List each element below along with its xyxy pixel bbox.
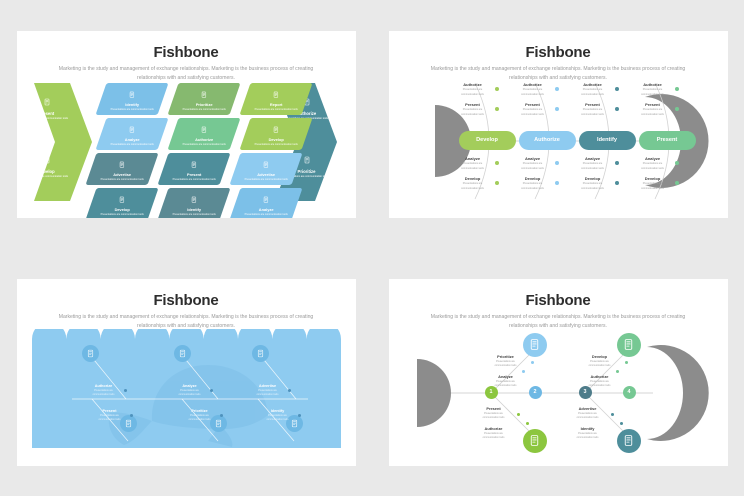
tile-icon-wrap-5 [175, 120, 233, 138]
branch-1-dot-1 [526, 422, 530, 426]
node-number-1: 1 [490, 389, 493, 395]
branch-top-desc1-1: Presentations are [170, 389, 210, 393]
branch-0-desc2-0: communication tools [485, 364, 527, 368]
tile-label-11: Analyze [237, 208, 295, 212]
branch-bottom-dot-0 [130, 414, 133, 417]
bone-top-desc2-2-0: communication tools [571, 93, 615, 97]
tile-develop-9[interactable]: DevelopPresentations are communication t… [239, 118, 312, 150]
search-icon [622, 434, 635, 447]
bone-bottom-desc1-1-0: Presentations are [511, 162, 555, 166]
tile-label-0: Identify [103, 103, 161, 107]
tile-desc-4: Presentations are communication tools [175, 108, 233, 112]
bone-top-desc2-0-0: communication tools [451, 93, 495, 97]
bone-bottom-dot-2-1 [615, 181, 619, 185]
slide-numbered-fishbone[interactable]: Fishbone Marketing is the study and mana… [389, 279, 728, 466]
panel1-stage: PresentPresentations are communication t… [17, 77, 356, 218]
cloud-icon [200, 125, 208, 133]
branch-top-dot-1 [210, 389, 213, 392]
node-number-4: 4 [628, 389, 631, 395]
bone-top-desc1-2-1: Presentations are [571, 108, 615, 112]
branch-0-item-0[interactable]: PrioritizePresentations arecommunication… [485, 355, 527, 369]
bone-bottom-dot-0-0 [495, 161, 499, 165]
bone-top-label-2-0: Authorize [571, 83, 615, 88]
mobile-icon [178, 349, 187, 358]
tile-desc-9: Presentations are communication tools [247, 143, 305, 147]
tile-label-6: Present [165, 173, 223, 177]
branch-bottom-dot-1 [220, 414, 223, 417]
bone-top-0-1[interactable]: PresentPresentations arecommunication to… [451, 103, 495, 117]
tile-report-8[interactable]: ReportPresentations are communication to… [239, 83, 312, 115]
bone-bottom-1-0[interactable]: AnalyzePresentations arecommunication to… [511, 157, 555, 171]
bone-top-3-1[interactable]: PresentPresentations arecommunication to… [631, 103, 675, 117]
underwater-diagram: AuthorizePresentations arecommunication … [32, 329, 341, 448]
bone-bottom-dot-3-0 [675, 161, 679, 165]
capsule-label-2: Identify [597, 137, 617, 143]
tile-identify-0[interactable]: IdentifyPresentations are communication … [95, 83, 168, 115]
tile-label-3: Develop [93, 208, 151, 212]
tile-label-5: Authorize [175, 138, 233, 142]
chevron-left-label-1: Develop [19, 170, 75, 175]
bone-top-desc1-2-0: Presentations are [571, 88, 615, 92]
tile-desc-0: Presentations are communication tools [103, 108, 161, 112]
slide-cell-2: Fishbone Marketing is the study and mana… [372, 0, 744, 248]
bone-bottom-label-2-1: Develop [571, 177, 615, 182]
bone-bottom-desc1-0-0: Presentations are [451, 162, 495, 166]
bone-top-desc2-1-0: communication tools [511, 93, 555, 97]
branch-1-dot-0 [517, 413, 521, 417]
branch-1-desc2-1: communication tools [473, 436, 515, 440]
bone-top-desc1-0-1: Presentations are [451, 108, 495, 112]
tile-identify-7[interactable]: IdentifyPresentations are communication … [157, 188, 230, 218]
tile-inner-7: IdentifyPresentations are communication … [165, 190, 223, 217]
bone-bottom-desc1-3-0: Presentations are [631, 162, 675, 166]
clipboard-icon [118, 160, 126, 168]
branch-top-label-2: Advertise [248, 384, 288, 388]
phone-icon [86, 349, 95, 358]
branch-2-item-0[interactable]: DevelopPresentations arecommunication to… [579, 355, 621, 369]
bone-bottom-dot-2-0 [615, 161, 619, 165]
bone-top-desc2-2-1: communication tools [571, 113, 615, 117]
bone-top-1-1[interactable]: PresentPresentations arecommunication to… [511, 103, 555, 117]
bone-bottom-3-1[interactable]: DevelopPresentations arecommunication to… [631, 177, 675, 191]
chevron-left-icon-wrap-1 [19, 151, 75, 169]
bone-top-desc2-1-1: communication tools [511, 113, 555, 117]
bone-top-dot-0-1 [495, 107, 499, 111]
tile-inner-0: IdentifyPresentations are communication … [103, 85, 161, 112]
branch-bottom-label-0: Present [90, 409, 130, 413]
branch-top-desc1-0: Presentations are [84, 389, 124, 393]
branch-bottom-dot-2 [298, 414, 301, 417]
branch-2-label-1: Authorize [579, 375, 621, 379]
tile-label-8: Report [247, 103, 305, 107]
slide-cell-1: Fishbone Marketing is the study and mana… [0, 0, 372, 248]
branch-0-desc2-1: communication tools [485, 384, 527, 388]
bone-top-desc1-3-0: Presentations are [631, 88, 675, 92]
bone-top-label-1-1: Present [511, 103, 555, 108]
branch-top-2[interactable]: AdvertisePresentations arecommunication … [248, 384, 288, 397]
tile-label-2: Advertise [93, 173, 151, 177]
fish-skeleton [389, 325, 728, 466]
tile-icon-wrap-10 [237, 155, 295, 173]
node-4[interactable]: 4 [623, 386, 636, 399]
tile-develop-3[interactable]: DevelopPresentations are communication t… [85, 188, 158, 218]
bone-top-label-0-0: Authorize [451, 83, 495, 88]
tile-authorize-5[interactable]: AuthorizePresentations are communication… [167, 118, 240, 150]
slide-grid: Fishbone Marketing is the study and mana… [0, 0, 744, 496]
branch-top-desc2-2: communication tools [248, 393, 288, 397]
subtitle-line-1: Marketing is the study and management of… [59, 66, 269, 72]
tile-icon-wrap-0 [103, 85, 161, 103]
capsule-develop[interactable]: Develop [459, 131, 516, 150]
slide-underwater-fishbone[interactable]: Fishbone Marketing is the study and mana… [17, 279, 356, 466]
tile-inner-11: AnalyzePresentations are communication t… [237, 190, 295, 217]
branch-bottom-1[interactable]: PrioritizePresentations arecommunication… [180, 409, 220, 422]
bone-top-dot-0-0 [495, 87, 499, 91]
bone-bottom-dot-1-0 [555, 161, 559, 165]
tile-inner-5: AuthorizePresentations are communication… [175, 120, 233, 147]
branch-1-desc1-1: Presentations are [473, 432, 515, 436]
tile-icon-wrap-3 [93, 190, 151, 208]
tile-label-10: Advertise [237, 173, 295, 177]
bone-bottom-label-2-0: Analyze [571, 157, 615, 162]
branch-3-label-1: Identify [567, 427, 609, 431]
bone-bottom-2-0[interactable]: AnalyzePresentations arecommunication to… [571, 157, 615, 171]
tile-desc-8: Presentations are communication tools [247, 108, 305, 112]
bone-bottom-3-0[interactable]: AnalyzePresentations arecommunication to… [631, 157, 675, 171]
tile-inner-10: AdvertisePresentations are communication… [237, 155, 295, 182]
branch-bottom-label-2: Identify [258, 409, 298, 413]
tile-desc-3: Presentations are communication tools [93, 213, 151, 217]
branch-3-dot-0 [611, 413, 615, 417]
tile-desc-6: Presentations are communication tools [165, 178, 223, 182]
bone-bottom-label-1-0: Analyze [511, 157, 555, 162]
bone-bottom-2-1[interactable]: DevelopPresentations arecommunication to… [571, 177, 615, 191]
bone-bottom-desc2-0-1: communication tools [451, 187, 495, 191]
tile-icon-wrap-8 [247, 85, 305, 103]
tile-icon-wrap-11 [237, 190, 295, 208]
tile-desc-7: Presentations are communication tools [165, 213, 223, 217]
branch-top-label-0: Authorize [84, 384, 124, 388]
branch-1-item-1[interactable]: AuthorizePresentations arecommunication … [473, 427, 515, 441]
branch-top-icon-1[interactable] [174, 345, 191, 362]
tile-icon-wrap-9 [247, 120, 305, 138]
branch-2-desc2-0: communication tools [579, 364, 621, 368]
tile-inner-8: ReportPresentations are communication to… [247, 85, 305, 112]
bone-bottom-label-0-0: Analyze [451, 157, 495, 162]
bone-bottom-desc1-2-1: Presentations are [571, 182, 615, 186]
node-2[interactable]: 2 [529, 386, 542, 399]
umbrella-icon [528, 434, 541, 447]
tile-label-1: Analyze [103, 138, 161, 142]
tile-icon-wrap-1 [103, 120, 161, 138]
tile-icon-wrap-4 [175, 85, 233, 103]
screen-icon [190, 160, 198, 168]
globe-icon [43, 156, 51, 164]
branch-top-label-1: Analyze [170, 384, 210, 388]
bone-bottom-desc2-0-0: communication tools [451, 167, 495, 171]
tile-inner-4: PrioritizePresentations are communicatio… [175, 85, 233, 112]
branch-top-desc2-1: communication tools [170, 393, 210, 397]
branch-top-icon-0[interactable] [82, 345, 99, 362]
capsule-diagram: DevelopAuthorizePresentations arecommuni… [389, 77, 728, 218]
bone-bottom-desc2-1-1: communication tools [511, 187, 555, 191]
branch-bottom-desc2-1: communication tools [180, 418, 220, 422]
bars-icon [272, 90, 280, 98]
branch-2-dot-0 [625, 361, 629, 365]
capsule-identify[interactable]: Identify [579, 131, 636, 150]
branch-2-desc1-0: Presentations are [579, 360, 621, 364]
branch-1-desc2-0: communication tools [473, 416, 515, 420]
bone-top-label-1-0: Authorize [511, 83, 555, 88]
branch-2-desc2-1: communication tools [579, 384, 621, 388]
bone-bottom-0-1[interactable]: DevelopPresentations arecommunication to… [451, 177, 495, 191]
branch-3-desc1-1: Presentations are [567, 432, 609, 436]
book-icon [262, 195, 270, 203]
branch-icon-2[interactable] [617, 333, 641, 357]
bone-bottom-desc2-2-1: communication tools [571, 187, 615, 191]
branch-top-desc2-0: communication tools [84, 393, 124, 397]
bone-bottom-desc1-0-1: Presentations are [451, 182, 495, 186]
branch-0-label-1: Analyze [485, 375, 527, 379]
tile-inner-2: AdvertisePresentations are communication… [93, 155, 151, 182]
bone-bottom-label-1-1: Develop [511, 177, 555, 182]
tile-desc-1: Presentations are communication tools [103, 143, 161, 147]
chevron-left-desc-1: Presentations are communication tools [19, 175, 75, 179]
bone-bottom-label-0-1: Develop [451, 177, 495, 182]
slide-cell-3: Fishbone Marketing is the study and mana… [0, 248, 372, 496]
tile-label-4: Prioritize [175, 103, 233, 107]
shield-icon [622, 338, 635, 351]
tile-desc-5: Presentations are communication tools [175, 143, 233, 147]
tile-inner-1: AnalyzePresentations are communication t… [103, 120, 161, 147]
bone-top-desc1-1-0: Presentations are [511, 88, 555, 92]
diamond-icon [118, 195, 126, 203]
tile-icon-wrap-6 [165, 155, 223, 173]
umbrella-icon [43, 98, 51, 106]
bone-top-label-2-1: Present [571, 103, 615, 108]
bone-top-desc2-0-1: communication tools [451, 113, 495, 117]
page-title: Fishbone [389, 44, 728, 61]
tile-inner-3: DevelopPresentations are communication t… [93, 190, 151, 217]
bone-top-2-1[interactable]: PresentPresentations arecommunication to… [571, 103, 615, 117]
branch-bottom-desc1-0: Presentations are [90, 414, 130, 418]
bone-top-desc2-3-1: communication tools [631, 113, 675, 117]
page-title: Fishbone [389, 292, 728, 309]
branch-0-dot-1 [522, 370, 526, 374]
branch-bottom-0[interactable]: PresentPresentations arecommunication to… [90, 409, 130, 422]
bone-bottom-label-3-1: Develop [631, 177, 675, 182]
bone-top-0-0[interactable]: AuthorizePresentations arecommunication … [451, 83, 495, 97]
branch-2-dot-1 [616, 370, 620, 374]
node-number-2: 2 [534, 389, 537, 395]
branch-icon-3[interactable] [617, 429, 641, 453]
fish-tail [417, 359, 451, 427]
chevron-diagram: PresentPresentations are communication t… [17, 77, 356, 218]
branch-0-label-0: Prioritize [485, 355, 527, 359]
branch-3-item-1[interactable]: IdentifyPresentations arecommunication t… [567, 427, 609, 441]
branch-1-label-1: Authorize [473, 427, 515, 431]
branch-icon-1[interactable] [523, 429, 547, 453]
bone-bottom-dot-0-1 [495, 181, 499, 185]
bone-bottom-1-1[interactable]: DevelopPresentations arecommunication to… [511, 177, 555, 191]
crown-icon [190, 195, 198, 203]
bone-bottom-label-3-0: Analyze [631, 157, 675, 162]
branch-1-label-0: Present [473, 407, 515, 411]
branch-bottom-desc2-2: communication tools [258, 418, 298, 422]
trophy-icon [528, 338, 541, 351]
branch-3-desc1-0: Presentations are [567, 412, 609, 416]
branch-3-desc2-1: communication tools [567, 436, 609, 440]
branch-top-1[interactable]: AnalyzePresentations arecommunication to… [170, 384, 210, 397]
bone-bottom-desc2-1-0: communication tools [511, 167, 555, 171]
branch-1-desc1-0: Presentations are [473, 412, 515, 416]
bone-top-desc1-1-1: Presentations are [511, 108, 555, 112]
branch-0-dot-0 [531, 361, 535, 365]
bone-top-3-0[interactable]: AuthorizePresentations arecommunication … [631, 83, 675, 97]
bone-bottom-desc2-2-0: communication tools [571, 167, 615, 171]
capsule-present[interactable]: Present [639, 131, 696, 150]
tile-present-6[interactable]: PresentPresentations are communication t… [157, 153, 230, 185]
chevron-left-item-0[interactable]: PresentPresentations are communication t… [19, 93, 75, 121]
branch-3-label-0: Advertise [567, 407, 609, 411]
bone-bottom-desc2-3-1: communication tools [631, 187, 675, 191]
chevron-left-label-0: Present [19, 112, 75, 117]
tile-label-9: Develop [247, 138, 305, 142]
tile-desc-11: Presentations are communication tools [237, 213, 295, 217]
branch-bottom-desc1-1: Presentations are [180, 414, 220, 418]
slide-cell-4: Fishbone Marketing is the study and mana… [372, 248, 744, 496]
image-icon [272, 125, 280, 133]
tile-inner-6: PresentPresentations are communication t… [165, 155, 223, 182]
branch-0-item-1[interactable]: AnalyzePresentations arecommunication to… [485, 375, 527, 389]
capsule-label-1: Authorize [534, 137, 560, 143]
tile-prioritize-4[interactable]: PrioritizePresentations are communicatio… [167, 83, 240, 115]
branch-bottom-label-1: Prioritize [180, 409, 220, 413]
bone-top-label-0-1: Present [451, 103, 495, 108]
tile-analyze-1[interactable]: AnalyzePresentations are communication t… [95, 118, 168, 150]
speaker-icon [262, 160, 270, 168]
bone-bottom-desc1-1-1: Presentations are [511, 182, 555, 186]
bone-bottom-desc1-3-1: Presentations are [631, 182, 675, 186]
bone-top-dot-3-1 [675, 107, 679, 111]
bone-bottom-dot-3-1 [675, 181, 679, 185]
tile-advertise-2[interactable]: AdvertisePresentations are communication… [85, 153, 158, 185]
bone-top-dot-1-1 [555, 107, 559, 111]
slide-capsule-fishbone[interactable]: Fishbone Marketing is the study and mana… [389, 31, 728, 218]
tile-inner-9: DevelopPresentations are communication t… [247, 120, 305, 147]
chevron-left-desc-0: Presentations are communication tools [19, 117, 75, 121]
branch-top-icon-2[interactable] [252, 345, 269, 362]
branch-bottom-2[interactable]: IdentifyPresentations arecommunication t… [258, 409, 298, 422]
calculator-icon [303, 156, 311, 164]
subtitle-line-1: Marketing is the study and management of… [431, 66, 641, 72]
bone-bottom-desc1-2-0: Presentations are [571, 162, 615, 166]
branch-1-item-0[interactable]: PresentPresentations arecommunication to… [473, 407, 515, 421]
tile-desc-10: Presentations are communication tools [237, 178, 295, 182]
subtitle-line-1: Marketing is the study and management of… [59, 314, 269, 320]
bone-top-dot-2-1 [615, 107, 619, 111]
branch-top-dot-2 [288, 389, 291, 392]
graph-icon [200, 90, 208, 98]
panel4-stage: 1234PrioritizePresentations arecommunica… [389, 325, 728, 466]
page-title: Fishbone [17, 44, 356, 61]
bone-top-dot-3-0 [675, 87, 679, 91]
bone-top-2-0[interactable]: AuthorizePresentations arecommunication … [571, 83, 615, 97]
tile-desc-2: Presentations are communication tools [93, 178, 151, 182]
branch-bottom-desc2-0: communication tools [90, 418, 130, 422]
branch-0-desc1-1: Presentations are [485, 380, 527, 384]
chevron-left-icon-wrap-0 [19, 93, 75, 111]
branch-2-item-1[interactable]: AuthorizePresentations arecommunication … [579, 375, 621, 389]
node-number-3: 3 [584, 389, 587, 395]
branch-0-desc1-0: Presentations are [485, 360, 527, 364]
tile-icon-wrap-7 [165, 190, 223, 208]
book-icon [256, 349, 265, 358]
panel2-stage: DevelopAuthorizePresentations arecommuni… [389, 77, 728, 218]
branch-3-item-0[interactable]: AdvertisePresentations arecommunication … [567, 407, 609, 421]
capsule-label-3: Present [657, 137, 678, 143]
numbered-diagram: 1234PrioritizePresentations arecommunica… [389, 325, 728, 466]
lamp-icon [128, 125, 136, 133]
branch-3-dot-1 [620, 422, 624, 426]
page-title: Fishbone [17, 292, 356, 309]
branch-2-label-0: Develop [579, 355, 621, 359]
bone-top-dot-2-0 [615, 87, 619, 91]
bone-top-desc1-3-1: Presentations are [631, 108, 675, 112]
bone-bottom-dot-1-1 [555, 181, 559, 185]
bone-bottom-0-0[interactable]: AnalyzePresentations arecommunication to… [451, 157, 495, 171]
tile-analyze-11[interactable]: AnalyzePresentations are communication t… [229, 188, 302, 218]
tile-advertise-10[interactable]: AdvertisePresentations are communication… [229, 153, 302, 185]
branch-2-desc1-1: Presentations are [579, 380, 621, 384]
capsule-label-0: Develop [476, 137, 498, 143]
chevron-left-item-1[interactable]: DevelopPresentations are communication t… [19, 151, 75, 179]
tile-icon-wrap-2 [93, 155, 151, 173]
bone-top-label-3-1: Present [631, 103, 675, 108]
fish-head [647, 345, 709, 441]
bone-top-label-3-0: Authorize [631, 83, 675, 88]
subtitle-line-1: Marketing is the study and management of… [431, 314, 641, 320]
bone-top-desc1-0-0: Presentations are [451, 88, 495, 92]
bone-top-1-0[interactable]: AuthorizePresentations arecommunication … [511, 83, 555, 97]
branch-top-0[interactable]: AuthorizePresentations arecommunication … [84, 384, 124, 397]
branch-top-desc1-2: Presentations are [248, 389, 288, 393]
branch-top-dot-0 [124, 389, 127, 392]
capsule-authorize[interactable]: Authorize [519, 131, 576, 150]
bone-top-desc2-3-0: communication tools [631, 93, 675, 97]
branch-bottom-desc1-2: Presentations are [258, 414, 298, 418]
branch-icon-0[interactable] [523, 333, 547, 357]
chart-icon [128, 90, 136, 98]
bone-top-dot-1-0 [555, 87, 559, 91]
tile-label-7: Identify [165, 208, 223, 212]
branch-3-desc2-0: communication tools [567, 416, 609, 420]
slide-chevron-fishbone[interactable]: Fishbone Marketing is the study and mana… [17, 31, 356, 218]
bone-bottom-desc2-3-0: communication tools [631, 167, 675, 171]
